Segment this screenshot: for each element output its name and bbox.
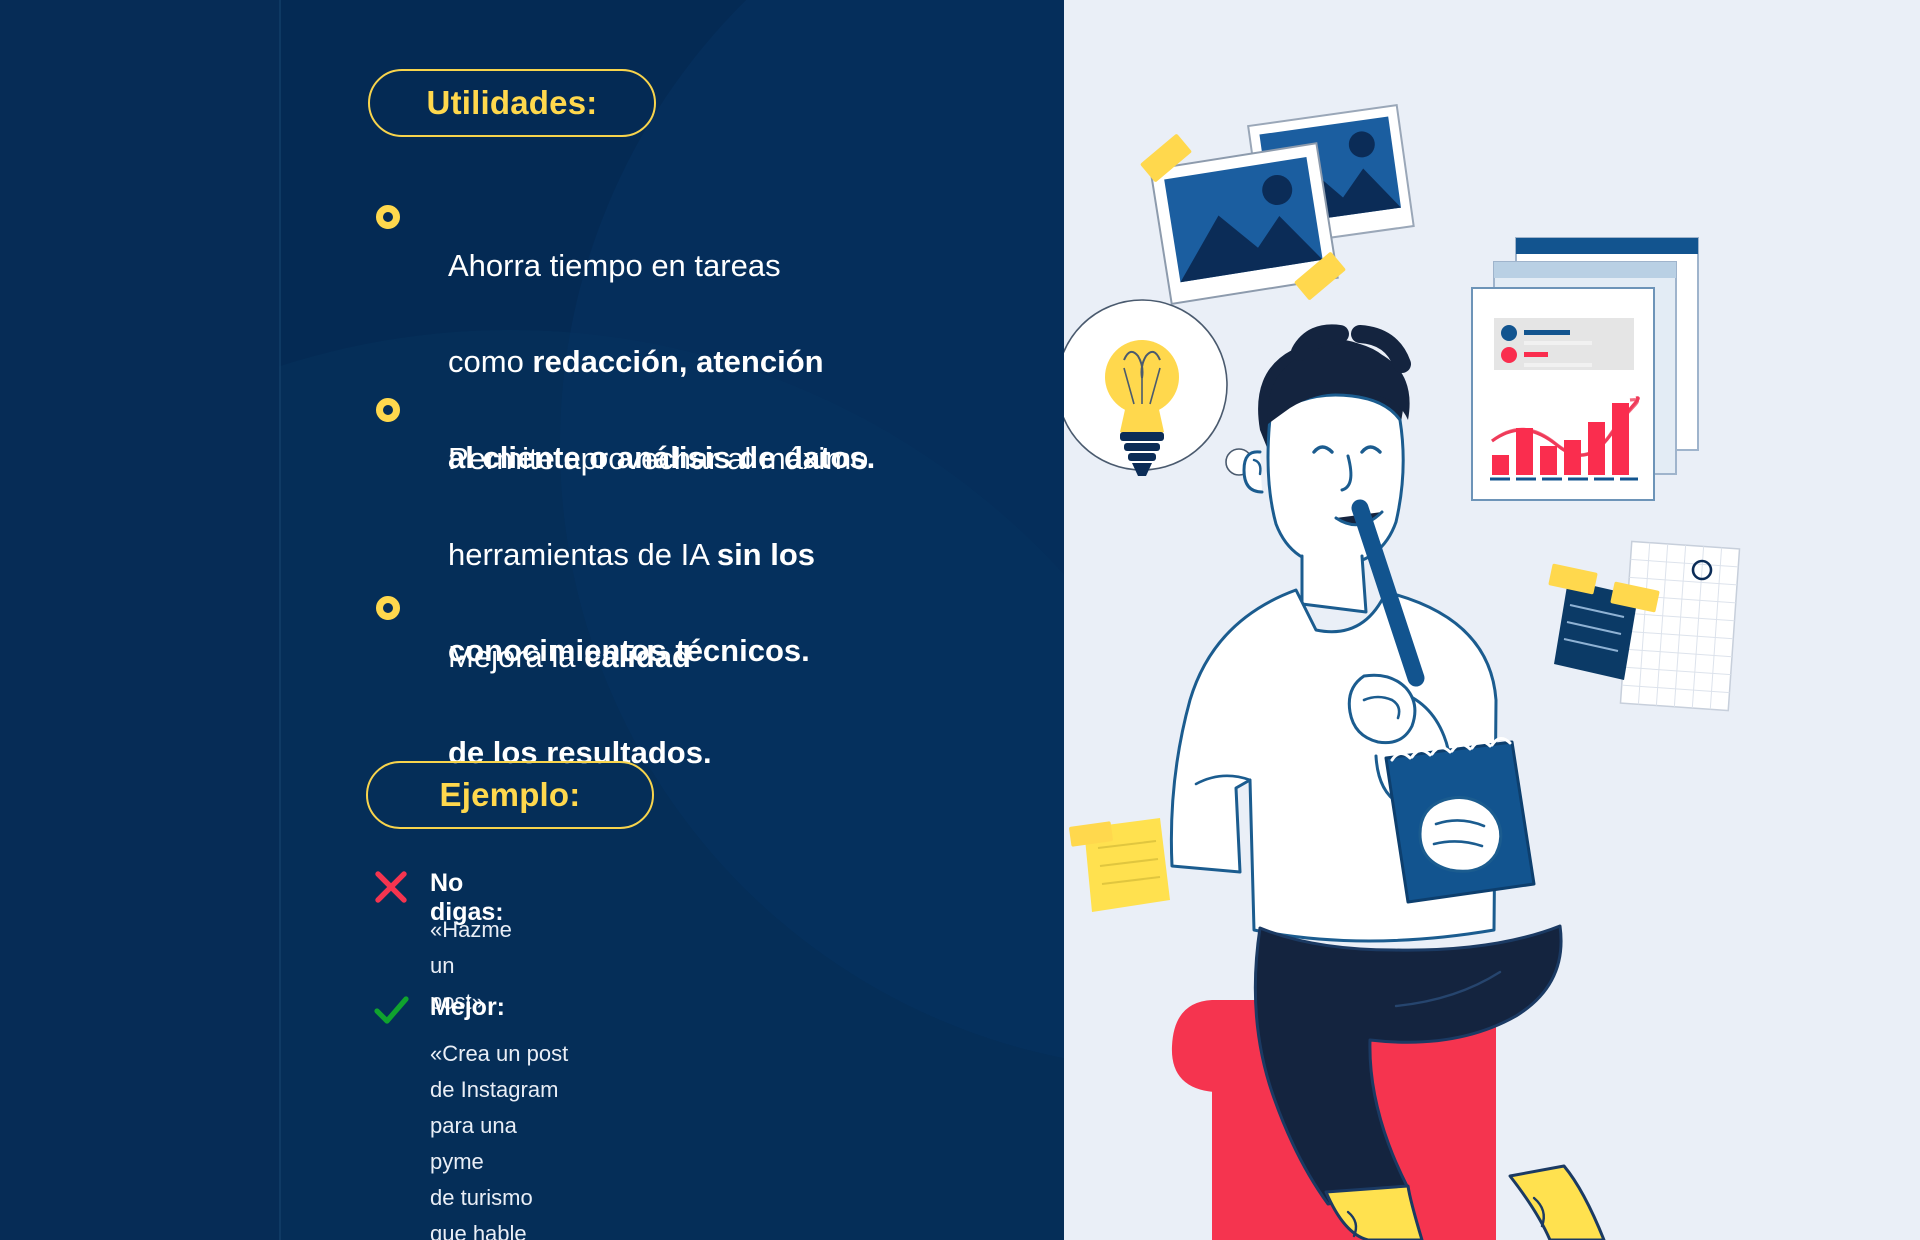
bullet-line-1: Ahorra tiempo en tareas (448, 248, 781, 283)
bullet-item: Mejora la calidad de los resultados. (376, 585, 712, 777)
heading-pill-utilidades: Utilidades: (368, 69, 656, 137)
document-header-block (1494, 318, 1634, 370)
cross-mark-icon (372, 868, 410, 906)
bullet-line-1: Mejora la (448, 639, 584, 674)
bullet-line-1: Permite aprovechar al máximo (448, 441, 868, 476)
ring-bullet-icon (376, 596, 400, 620)
tape-icon (1548, 563, 1598, 594)
left-edge-strip (0, 0, 279, 1240)
photo-frame-icon (1140, 105, 1414, 304)
example-good-title: Mejor: (430, 993, 505, 1022)
heading-pill-ejemplo: Ejemplo: (366, 761, 654, 829)
chart-bar (1588, 422, 1605, 475)
ring-bullet-icon (376, 398, 400, 422)
left-divider-line (279, 0, 281, 1240)
example-good-body: «Crea un post de Instagram para una pyme… (430, 1036, 569, 1240)
left-content-panel: Utilidades: Ahorra tiempo en tareas como… (0, 0, 1064, 1240)
check-mark-icon (372, 992, 410, 1030)
chart-bar (1540, 446, 1557, 475)
heading-utilidades-label: Utilidades: (427, 84, 598, 122)
bullet-line-2-bold: redacción, atención (532, 344, 823, 379)
chart-bar (1516, 428, 1533, 475)
illustration-panel (1064, 0, 1920, 1240)
ring-bullet-icon (376, 205, 400, 229)
bullet-text: Mejora la calidad de los resultados. (448, 585, 712, 777)
grid-paper-icon (1620, 541, 1739, 710)
chart-bar (1564, 440, 1581, 475)
chart-bar (1612, 403, 1629, 475)
sticky-note-icon (1069, 818, 1170, 912)
bullet-line-2-bold: calidad (584, 639, 691, 674)
bullet-line-2-plain: herramientas de IA (448, 537, 717, 572)
heading-ejemplo-label: Ejemplo: (440, 776, 581, 814)
chart-bar (1492, 455, 1509, 475)
bullet-line-2-bold: sin los (717, 537, 815, 572)
person-illustration (1064, 0, 1920, 1240)
poster-canvas: Utilidades: Ahorra tiempo en tareas como… (0, 0, 1920, 1240)
bullet-line-2-plain: como (448, 344, 532, 379)
